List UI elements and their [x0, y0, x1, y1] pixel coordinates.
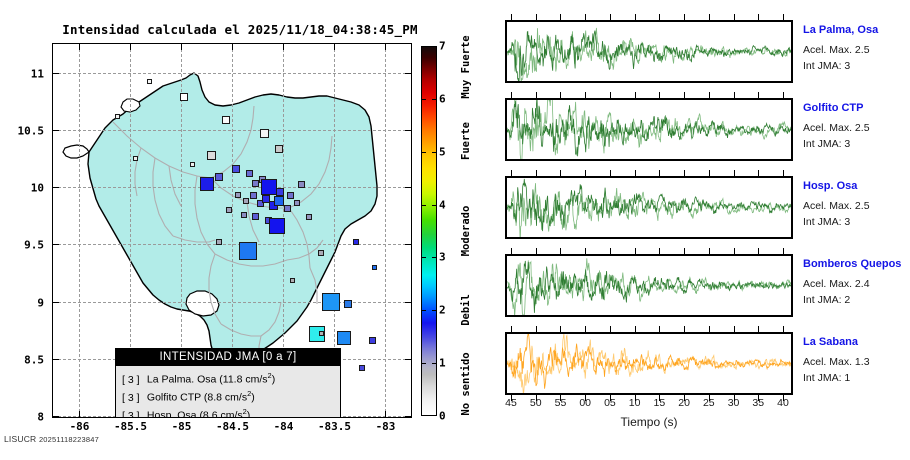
station-marker[interactable] [260, 129, 269, 138]
time-tick [758, 395, 759, 401]
gridline-vertical [79, 44, 80, 417]
colorbar-tick-label: 2 [439, 304, 446, 317]
station-marker[interactable] [261, 179, 277, 195]
country-landmass [63, 73, 377, 364]
colorbar-ticks [421, 46, 437, 416]
seismogram-bottom-ticks [505, 395, 793, 401]
station-marker[interactable] [226, 207, 232, 213]
time-tick [511, 14, 512, 20]
station-marker[interactable] [269, 218, 285, 234]
colorbar-tick-label: 6 [439, 92, 446, 105]
station-marker[interactable] [241, 212, 247, 218]
y-tick [53, 187, 59, 188]
y-axis-tick-label: 10 [31, 182, 44, 195]
time-tick [610, 326, 611, 332]
station-jma-intensity: Int JMA: 3 [803, 216, 850, 228]
station-marker[interactable] [235, 192, 241, 198]
y-tick [53, 302, 59, 303]
seismogram-panel[interactable] [505, 176, 793, 239]
y-tick [405, 130, 411, 131]
station-max-acceleration: Acel. Max. 1.3 [803, 356, 870, 368]
legend-entry-close: ) [251, 392, 255, 404]
station-marker[interactable] [344, 300, 352, 308]
x-axis-tick-label: -85 [172, 420, 192, 433]
station-marker[interactable] [294, 200, 300, 206]
time-tick [783, 248, 784, 254]
time-tick [511, 395, 512, 401]
legend-entry-level: [ 3 ] [122, 392, 144, 406]
colorbar-tick [421, 363, 426, 364]
time-tick [659, 92, 660, 98]
time-tick [709, 92, 710, 98]
station-marker[interactable] [250, 192, 257, 199]
time-tick [610, 14, 611, 20]
colorbar-tick [421, 310, 426, 311]
x-tick [181, 44, 182, 50]
colorbar-tick-labels: 01234567 [439, 46, 457, 416]
station-max-acceleration: Acel. Max. 2.5 [803, 44, 870, 56]
colorbar-tick-label: 3 [439, 251, 446, 264]
colorbar-category: Muy Fuerte [460, 36, 472, 99]
time-tick [635, 92, 636, 98]
time-tick [585, 395, 586, 401]
y-tick [405, 302, 411, 303]
time-tick [684, 326, 685, 332]
x-axis-tick-label: -84.5 [216, 420, 249, 433]
colorbar-tick [432, 363, 437, 364]
station-jma-intensity: Int JMA: 2 [803, 294, 850, 306]
x-tick [79, 411, 80, 417]
time-tick [734, 248, 735, 254]
colorbar-category: Moderado [460, 206, 472, 257]
gridline-horizontal [53, 130, 411, 131]
x-tick [232, 44, 233, 50]
y-tick [405, 244, 411, 245]
time-tick [610, 395, 611, 401]
x-tick [283, 44, 284, 50]
station-marker[interactable] [232, 165, 240, 173]
station-jma-intensity: Int JMA: 1 [803, 372, 850, 384]
seismogram-trace [507, 334, 791, 393]
station-marker[interactable] [180, 93, 188, 101]
colorbar-category: No sentido [460, 353, 472, 416]
station-marker[interactable] [216, 239, 222, 245]
legend-entry-station: Hosp. Osa (8.6 cm/s [144, 410, 243, 418]
station-max-acceleration: Acel. Max. 2.5 [803, 200, 870, 212]
footer-stamp: LISUCR 20251118223847 [4, 434, 99, 444]
legend-entry-close: ) [272, 374, 276, 386]
time-tick [758, 248, 759, 254]
y-axis-tick-label: 9.5 [24, 239, 44, 252]
time-tick [659, 395, 660, 401]
footer-agency: LISUCR [4, 434, 36, 444]
intensity-map[interactable]: INTENSIDAD JMA [0 a 7] [ 3 ] La Palma. O… [52, 43, 412, 418]
legend-entry-station: Golfito CTP (8.8 cm/s [144, 392, 247, 404]
time-tick [536, 326, 537, 332]
y-tick [405, 187, 411, 188]
y-tick [405, 73, 411, 74]
map-title: Intensidad calculada el 2025/11/18_04:38… [60, 22, 420, 37]
station-marker[interactable] [318, 250, 324, 256]
station-marker[interactable] [190, 162, 195, 167]
gridline-horizontal [53, 187, 411, 188]
legend-header: INTENSIDAD JMA [0 a 7] [116, 349, 340, 366]
footer-timestamp: 20251118223847 [39, 435, 99, 444]
legend-entry: [ 3 ] Golfito CTP (8.8 cm/s2) [122, 387, 340, 405]
time-tick [536, 248, 537, 254]
time-tick [511, 170, 512, 176]
time-tick [684, 170, 685, 176]
time-tick [610, 92, 611, 98]
y-tick [53, 73, 59, 74]
seismogram-panel[interactable] [505, 20, 793, 83]
station-marker[interactable] [274, 196, 284, 206]
legend-entry: [ 3 ] La Palma. Osa (11.8 cm/s2) [122, 369, 340, 387]
legend-entry-station: La Palma. Osa (11.8 cm/s [144, 374, 268, 386]
station-max-acceleration: Acel. Max. 2.5 [803, 122, 870, 134]
time-tick [536, 395, 537, 401]
y-axis-tick-label: 8 [37, 411, 44, 424]
time-tick [560, 248, 561, 254]
station-max-acceleration: Acel. Max. 2.4 [803, 278, 870, 290]
time-tick [734, 326, 735, 332]
time-tick [709, 248, 710, 254]
time-tick [659, 248, 660, 254]
time-tick [758, 170, 759, 176]
colorbar-category: Fuerte [460, 122, 472, 160]
time-tick [635, 14, 636, 20]
time-tick [560, 14, 561, 20]
colorbar-tick [432, 152, 437, 153]
seismogram-panel[interactable] [505, 332, 793, 395]
colorbar-tick [421, 205, 426, 206]
station-marker[interactable] [147, 79, 152, 84]
map-x-axis-labels: -86-85.5-85-84.5-84-83.5-83 [52, 420, 412, 436]
time-tick [684, 92, 685, 98]
intensity-legend: INTENSIDAD JMA [0 a 7] [ 3 ] La Palma. O… [115, 348, 341, 418]
time-tick [659, 170, 660, 176]
seismogram-trace [507, 100, 791, 159]
legend-entry-level: [ 3 ] [122, 410, 144, 418]
time-tick [709, 395, 710, 401]
station-marker[interactable] [246, 170, 253, 177]
seismogram-time-ticks [505, 14, 793, 20]
seismogram-trace [507, 256, 791, 315]
colorbar-tick [432, 205, 437, 206]
time-tick [734, 395, 735, 401]
time-tick [536, 92, 537, 98]
station-name: La Palma, Osa [803, 24, 878, 36]
time-tick [610, 170, 611, 176]
time-tick [585, 248, 586, 254]
colorbar-tick-label: 0 [439, 410, 446, 423]
time-tick [635, 326, 636, 332]
colorbar-tick-label: 7 [439, 40, 446, 53]
time-tick [536, 170, 537, 176]
station-jma-intensity: Int JMA: 3 [803, 138, 850, 150]
station-marker[interactable] [287, 192, 294, 199]
x-axis-tick-label: -86 [70, 420, 90, 433]
seismogram-time-ticks [505, 326, 793, 332]
time-tick [560, 326, 561, 332]
time-tick [684, 14, 685, 20]
station-marker[interactable] [243, 198, 249, 204]
x-axis-tick-label: -84 [274, 420, 294, 433]
time-tick [734, 92, 735, 98]
legend-entry-close: ) [247, 410, 251, 418]
seismogram-trace [507, 178, 791, 237]
time-tick [610, 248, 611, 254]
x-tick [385, 411, 386, 417]
colorbar-category-labels: No sentidoDebilModeradoFuerteMuy Fuerte [456, 46, 476, 416]
time-tick [684, 248, 685, 254]
colorbar-tick [421, 99, 426, 100]
station-marker[interactable] [133, 156, 138, 161]
station-marker[interactable] [252, 213, 259, 220]
time-tick [709, 170, 710, 176]
station-marker[interactable] [239, 242, 257, 260]
station-marker[interactable] [359, 365, 365, 371]
time-tick [709, 326, 710, 332]
x-axis-tick-label: -83 [376, 420, 396, 433]
time-tick [635, 395, 636, 401]
time-tick [734, 14, 735, 20]
x-tick [334, 44, 335, 50]
colorbar-category: Debil [460, 294, 472, 326]
time-tick [560, 92, 561, 98]
time-tick [511, 92, 512, 98]
station-name: La Sabana [803, 336, 858, 348]
colorbar-tick [421, 152, 426, 153]
station-marker[interactable] [207, 151, 216, 160]
time-tick [758, 326, 759, 332]
station-marker[interactable] [353, 239, 359, 245]
seismogram-time-ticks [505, 170, 793, 176]
station-marker[interactable] [372, 265, 377, 270]
seismogram-time-ticks [505, 248, 793, 254]
time-tick [709, 14, 710, 20]
y-axis-tick-label: 9 [37, 296, 44, 309]
station-marker[interactable] [275, 145, 283, 153]
y-axis-tick-label: 8.5 [24, 353, 44, 366]
time-tick [585, 14, 586, 20]
time-tick [659, 14, 660, 20]
x-axis-tick-label: -85.5 [114, 420, 147, 433]
seismic-intensity-report: Intensidad calculada el 2025/11/18_04:38… [0, 0, 910, 460]
station-marker[interactable] [284, 205, 291, 212]
x-tick [385, 44, 386, 50]
station-marker[interactable] [322, 293, 340, 311]
colorbar-tick [432, 310, 437, 311]
time-tick [560, 395, 561, 401]
time-tick [758, 92, 759, 98]
time-tick [585, 92, 586, 98]
time-tick [511, 326, 512, 332]
station-marker[interactable] [337, 331, 351, 345]
station-name: Hosp. Osa [803, 180, 857, 192]
y-tick [53, 130, 59, 131]
station-marker[interactable] [298, 181, 305, 188]
time-tick [783, 395, 784, 401]
colorbar-tick [432, 257, 437, 258]
station-marker[interactable] [276, 188, 284, 196]
y-tick [53, 416, 59, 417]
x-tick [79, 44, 80, 50]
y-tick [405, 416, 411, 417]
legend-entry: [ 3 ] Hosp. Osa (8.6 cm/s2) [122, 405, 340, 418]
seismogram-time-ticks [505, 92, 793, 98]
legend-entries: [ 3 ] La Palma. Osa (11.8 cm/s2)[ 3 ] Go… [116, 366, 340, 418]
station-marker[interactable] [306, 214, 312, 220]
y-tick [53, 244, 59, 245]
time-tick [585, 170, 586, 176]
time-tick [511, 248, 512, 254]
colorbar-tick [421, 257, 426, 258]
map-y-axis-labels: 1110.5109.598.58 [0, 43, 48, 418]
x-tick [130, 44, 131, 50]
time-tick [560, 170, 561, 176]
time-axis-label: Tiempo (s) [505, 415, 793, 429]
time-tick [734, 170, 735, 176]
x-axis-tick-label: -83.5 [318, 420, 351, 433]
seismogram-panel[interactable] [505, 98, 793, 161]
time-tick [783, 326, 784, 332]
station-marker[interactable] [369, 337, 376, 344]
station-marker[interactable] [215, 173, 223, 181]
time-tick [659, 326, 660, 332]
time-tick [585, 326, 586, 332]
time-tick [635, 248, 636, 254]
station-name: Golfito CTP [803, 102, 864, 114]
colorbar-tick-label: 5 [439, 145, 446, 158]
seismogram-trace [507, 22, 791, 81]
legend-entry-level: [ 3 ] [122, 374, 144, 388]
y-axis-tick-label: 10.5 [18, 124, 45, 137]
time-tick [536, 14, 537, 20]
gridline-vertical [385, 44, 386, 417]
seismogram-panel[interactable] [505, 254, 793, 317]
time-tick [783, 92, 784, 98]
station-name: Bomberos Quepos [803, 258, 901, 270]
station-jma-intensity: Int JMA: 3 [803, 60, 850, 72]
colorbar-tick-label: 4 [439, 198, 446, 211]
y-tick [53, 359, 59, 360]
gridline-horizontal [53, 302, 411, 303]
y-tick [405, 359, 411, 360]
time-tick [635, 170, 636, 176]
station-marker[interactable] [200, 177, 214, 191]
colorbar-tick [432, 99, 437, 100]
time-tick [783, 170, 784, 176]
y-axis-tick-label: 11 [31, 67, 44, 80]
station-marker[interactable] [319, 331, 324, 336]
station-marker[interactable] [222, 116, 230, 124]
colorbar-tick-label: 1 [439, 357, 446, 370]
time-tick [783, 14, 784, 20]
station-marker[interactable] [290, 278, 295, 283]
gridline-horizontal [53, 73, 411, 74]
time-tick [758, 14, 759, 20]
station-marker[interactable] [115, 114, 120, 119]
time-tick [684, 395, 685, 401]
